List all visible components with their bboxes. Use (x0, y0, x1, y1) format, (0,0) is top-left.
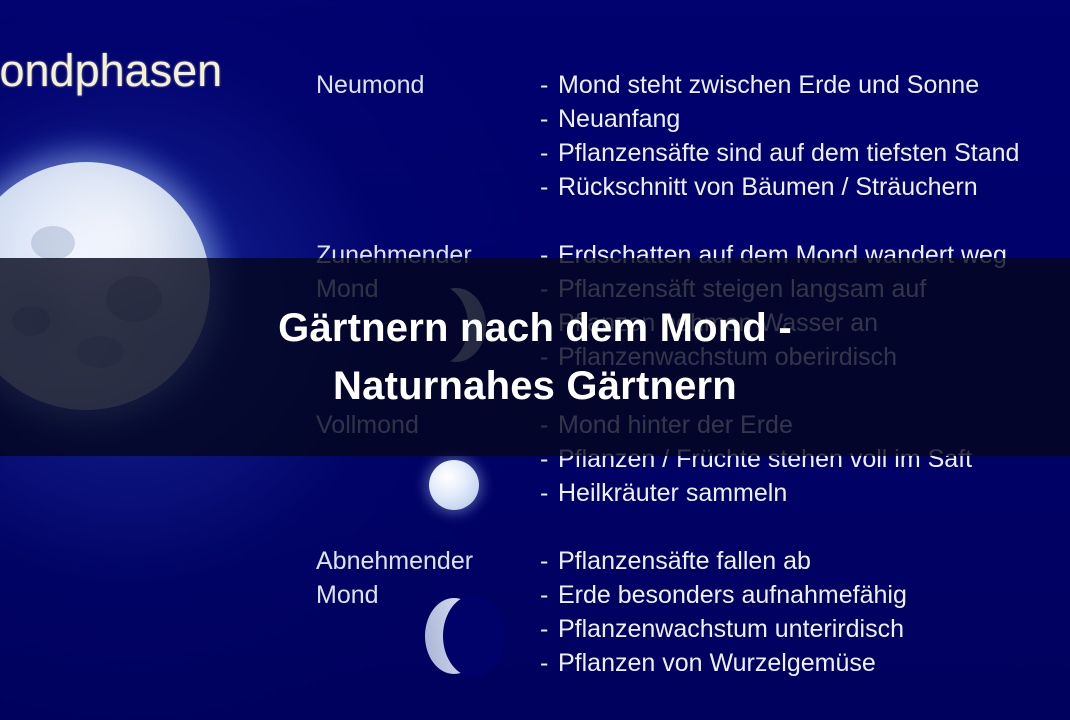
bullet-text: Heilkräuter sammeln (558, 479, 787, 507)
bullet-item: -Pflanzen von Wurzelgemüse (540, 646, 1070, 680)
bullet-dash: - (540, 102, 558, 136)
bullet-item: -Pflanzensäfte sind auf dem tiefsten Sta… (540, 136, 1070, 170)
phase-label-abnehmender-mond: Abnehmender Mond (316, 544, 540, 612)
phase-row-abnehmender-mond: Abnehmender Mond -Pflanzensäfte fallen a… (316, 544, 1070, 680)
bullet-dash: - (540, 578, 558, 612)
bullet-text: Pflanzenwachstum unterirdisch (558, 615, 904, 643)
phase-label-neumond: Neumond (316, 68, 540, 102)
slide-screenshot: Mondphasen Neumond -Mond steht zwischen … (0, 0, 1070, 720)
bullet-item: -Heilkräuter sammeln (540, 476, 1070, 510)
overlay-title: Gärtnern nach dem Mond - Naturnahes Gärt… (0, 258, 1070, 456)
bullet-dash: - (540, 68, 558, 102)
bullet-text: Pflanzensäfte fallen ab (558, 547, 811, 575)
bullet-text: Neuanfang (558, 105, 680, 133)
bullet-dash: - (540, 136, 558, 170)
bullet-item: -Erde besonders aufnahmefähig (540, 578, 1070, 612)
bullet-text: Erde besonders aufnahmefähig (558, 581, 907, 609)
phase-label-line-2: Mond (316, 578, 540, 612)
bullet-item: -Rückschnitt von Bäumen / Sträuchern (540, 170, 1070, 204)
bullet-item: -Pflanzensäfte fallen ab (540, 544, 1070, 578)
bullet-text: Pflanzensäfte sind auf dem tiefsten Stan… (558, 139, 1019, 167)
bullet-dash: - (540, 646, 558, 680)
slide-title: Mondphasen (0, 48, 222, 93)
bullet-dash: - (540, 612, 558, 646)
overlay-title-line-2: Naturnahes Gärtnern (333, 358, 737, 414)
moon-crater (31, 226, 75, 260)
phase-bullets-abnehmender-mond: -Pflanzensäfte fallen ab -Erde besonders… (540, 544, 1070, 680)
phase-row-neumond: Neumond -Mond steht zwischen Erde und So… (316, 68, 1070, 204)
bullet-dash: - (540, 476, 558, 510)
bullet-item: -Mond steht zwischen Erde und Sonne (540, 68, 1070, 102)
bullet-item: -Neuanfang (540, 102, 1070, 136)
bullet-text: Pflanzen von Wurzelgemüse (558, 649, 876, 677)
bullet-text: Rückschnitt von Bäumen / Sträuchern (558, 173, 978, 201)
bullet-item: -Pflanzenwachstum unterirdisch (540, 612, 1070, 646)
bullet-dash: - (540, 170, 558, 204)
bullet-text: Mond steht zwischen Erde und Sonne (558, 71, 979, 99)
bullet-dash: - (540, 544, 558, 578)
phase-bullets-neumond: -Mond steht zwischen Erde und Sonne -Neu… (540, 68, 1070, 204)
phase-label-line-1: Abnehmender (316, 544, 540, 578)
overlay-title-line-1: Gärtnern nach dem Mond - (278, 300, 792, 356)
